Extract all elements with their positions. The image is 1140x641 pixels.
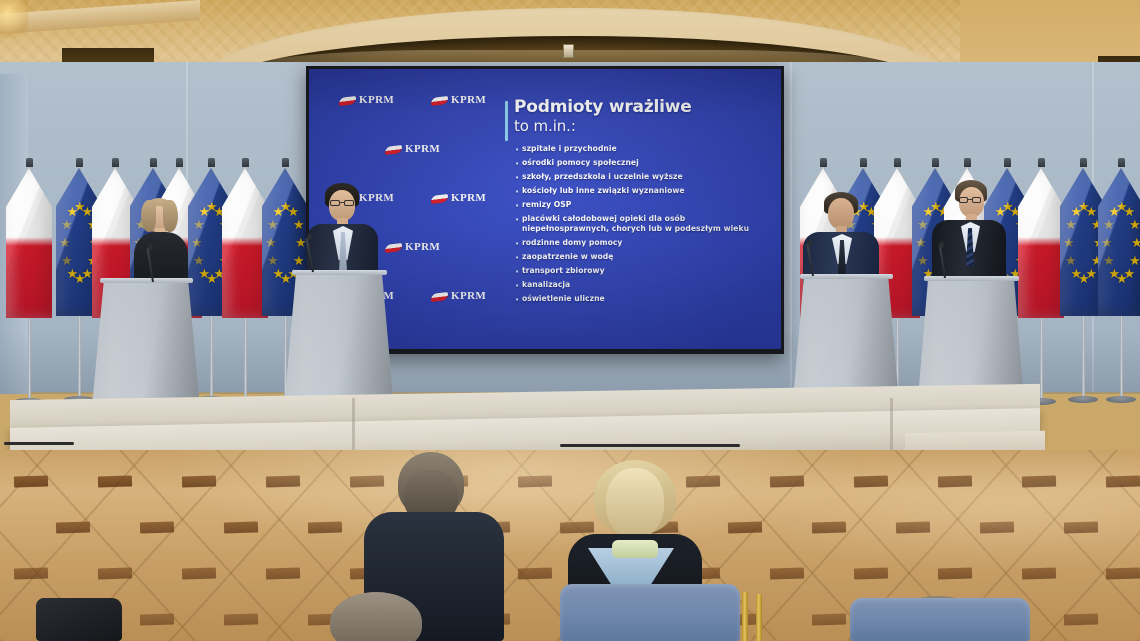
polish-flag-icon xyxy=(431,95,448,105)
chair-leg xyxy=(742,592,748,641)
flag-finial-icon xyxy=(112,158,119,167)
flag-finial-icon xyxy=(208,158,215,167)
flag-finial-icon xyxy=(964,158,971,167)
slide-content: Podmioty wrażliwe to m.in.: szpitale i p… xyxy=(505,99,773,308)
flag-finial-icon xyxy=(242,158,249,167)
slide-bullet-item: oświetlenie uliczne xyxy=(515,294,773,304)
flag-fold-shading xyxy=(1098,168,1140,316)
kprm-label: KPRM xyxy=(451,193,486,204)
glasses-icon xyxy=(344,200,354,206)
flag-finial-icon xyxy=(282,158,289,167)
audience-bag xyxy=(36,598,122,641)
microphone-head-icon xyxy=(939,242,944,248)
ceiling-fixture-icon xyxy=(563,44,574,58)
slide-bullet-item: zaopatrzenie w wodę xyxy=(515,252,773,262)
flag-fold-shading xyxy=(6,168,52,318)
glasses-icon xyxy=(330,200,340,206)
slide-bullet-item: remizy OSP xyxy=(515,200,773,210)
kprm-watermark: KPRM xyxy=(431,193,486,204)
flag-cloth xyxy=(6,168,52,318)
kprm-label: KPRM xyxy=(405,144,440,155)
audience-2-scarf xyxy=(612,540,658,558)
kprm-label: KPRM xyxy=(405,242,440,253)
title-accent-bar xyxy=(505,101,508,141)
audience-2-hair-inner xyxy=(606,468,664,538)
stage-seam xyxy=(352,398,355,456)
kprm-watermark: KPRM xyxy=(431,291,486,302)
speaker-left-hair-side xyxy=(141,200,156,232)
flag-cloth xyxy=(1018,168,1064,318)
microphone-head-icon xyxy=(148,244,153,250)
podium-right-outer-top xyxy=(924,276,1019,281)
slide-bullet-item: ośrodki pomocy społecznej xyxy=(515,158,773,168)
flag-finial-icon xyxy=(1080,158,1087,167)
kprm-watermark: KPRM xyxy=(339,95,394,106)
podium-center xyxy=(284,272,394,408)
flag-finial-icon xyxy=(1004,158,1011,167)
flag-finial-icon xyxy=(1118,158,1125,167)
polish-flag-icon xyxy=(339,95,356,105)
flag-finial-icon xyxy=(176,158,183,167)
slide-bullet-list: szpitale i przychodnieośrodki pomocy spo… xyxy=(505,144,773,304)
polish-flag xyxy=(6,168,52,318)
flag-finial-icon xyxy=(860,158,867,167)
stage-seam xyxy=(890,398,893,456)
slide-bullet-item: transport zbiorowy xyxy=(515,266,773,276)
podium-center-top xyxy=(292,270,387,275)
flag-finial-icon xyxy=(932,158,939,167)
kprm-label: KPRM xyxy=(359,193,394,204)
slide-bullet-item: szpitale i przychodnie xyxy=(515,144,773,154)
flag-cloth: ★★★★★★★★★★★★ xyxy=(1098,168,1140,316)
kprm-label: KPRM xyxy=(451,291,486,302)
slide-bullet-item: kościoły lub inne związki wyznaniowe xyxy=(515,186,773,196)
chandelier-glow-icon xyxy=(0,0,28,44)
slide-heading-block: Podmioty wrażliwe to m.in.: xyxy=(505,99,773,135)
polish-flag-icon xyxy=(431,193,448,203)
press-conference-scene: ★★★★★★★★★★★★★★★★★★★★★★★★★★★★★★★★★★★★★★★★… xyxy=(0,0,1140,641)
audience-chair-center xyxy=(560,584,740,641)
chair-leg xyxy=(756,594,762,641)
kprm-watermark: KPRM xyxy=(431,95,486,106)
podium-shading xyxy=(92,280,200,406)
slide-bullet-item: szkoły, przedszkola i uczelnie wyższe xyxy=(515,172,773,182)
speaker-left-hair-side xyxy=(163,200,178,232)
glasses-icon xyxy=(972,197,981,203)
flag-finial-icon xyxy=(894,158,901,167)
polish-flag-icon xyxy=(431,291,448,301)
flag-finial-icon xyxy=(26,158,33,167)
slide-title: Podmioty wrażliwe xyxy=(514,99,773,117)
kprm-watermark: KPRM xyxy=(385,242,440,253)
polish-flag xyxy=(1018,168,1064,318)
glasses-icon xyxy=(959,197,968,203)
speaker-right-inner-head xyxy=(828,198,854,229)
flag-base xyxy=(1106,396,1136,403)
flag-finial-icon xyxy=(150,158,157,167)
kprm-label: KPRM xyxy=(451,95,486,106)
microphone-head-icon xyxy=(807,240,812,246)
kprm-watermark: KPRM xyxy=(385,144,440,155)
audience-chair-right xyxy=(850,598,1030,641)
glasses-bridge-icon xyxy=(340,202,344,203)
polish-flag-icon xyxy=(385,144,402,154)
floor-cable xyxy=(560,444,740,447)
flag-finial-icon xyxy=(820,158,827,167)
flag-base xyxy=(1068,396,1098,403)
glasses-bridge-icon xyxy=(968,199,972,200)
slide-bullet-item: kanalizacja xyxy=(515,280,773,290)
podium-left-top xyxy=(100,278,193,283)
flag-finial-icon xyxy=(76,158,83,167)
kprm-label: KPRM xyxy=(359,95,394,106)
polish-flag-icon xyxy=(385,242,402,252)
slide-bullet-item: rodzinne domy pomocy xyxy=(515,238,773,248)
flag-finial-icon xyxy=(1038,158,1045,167)
podium-shading xyxy=(284,272,394,408)
eu-flag: ★★★★★★★★★★★★ xyxy=(1098,168,1140,316)
podium-left xyxy=(92,280,200,406)
slide-subtitle: to m.in.: xyxy=(514,118,773,135)
slide-bullet-item: placówki całodobowej opieki dla osób nie… xyxy=(515,214,773,234)
floor-cable xyxy=(4,442,74,445)
flag-fold-shading xyxy=(1018,168,1064,318)
microphone-head-icon xyxy=(307,234,312,240)
